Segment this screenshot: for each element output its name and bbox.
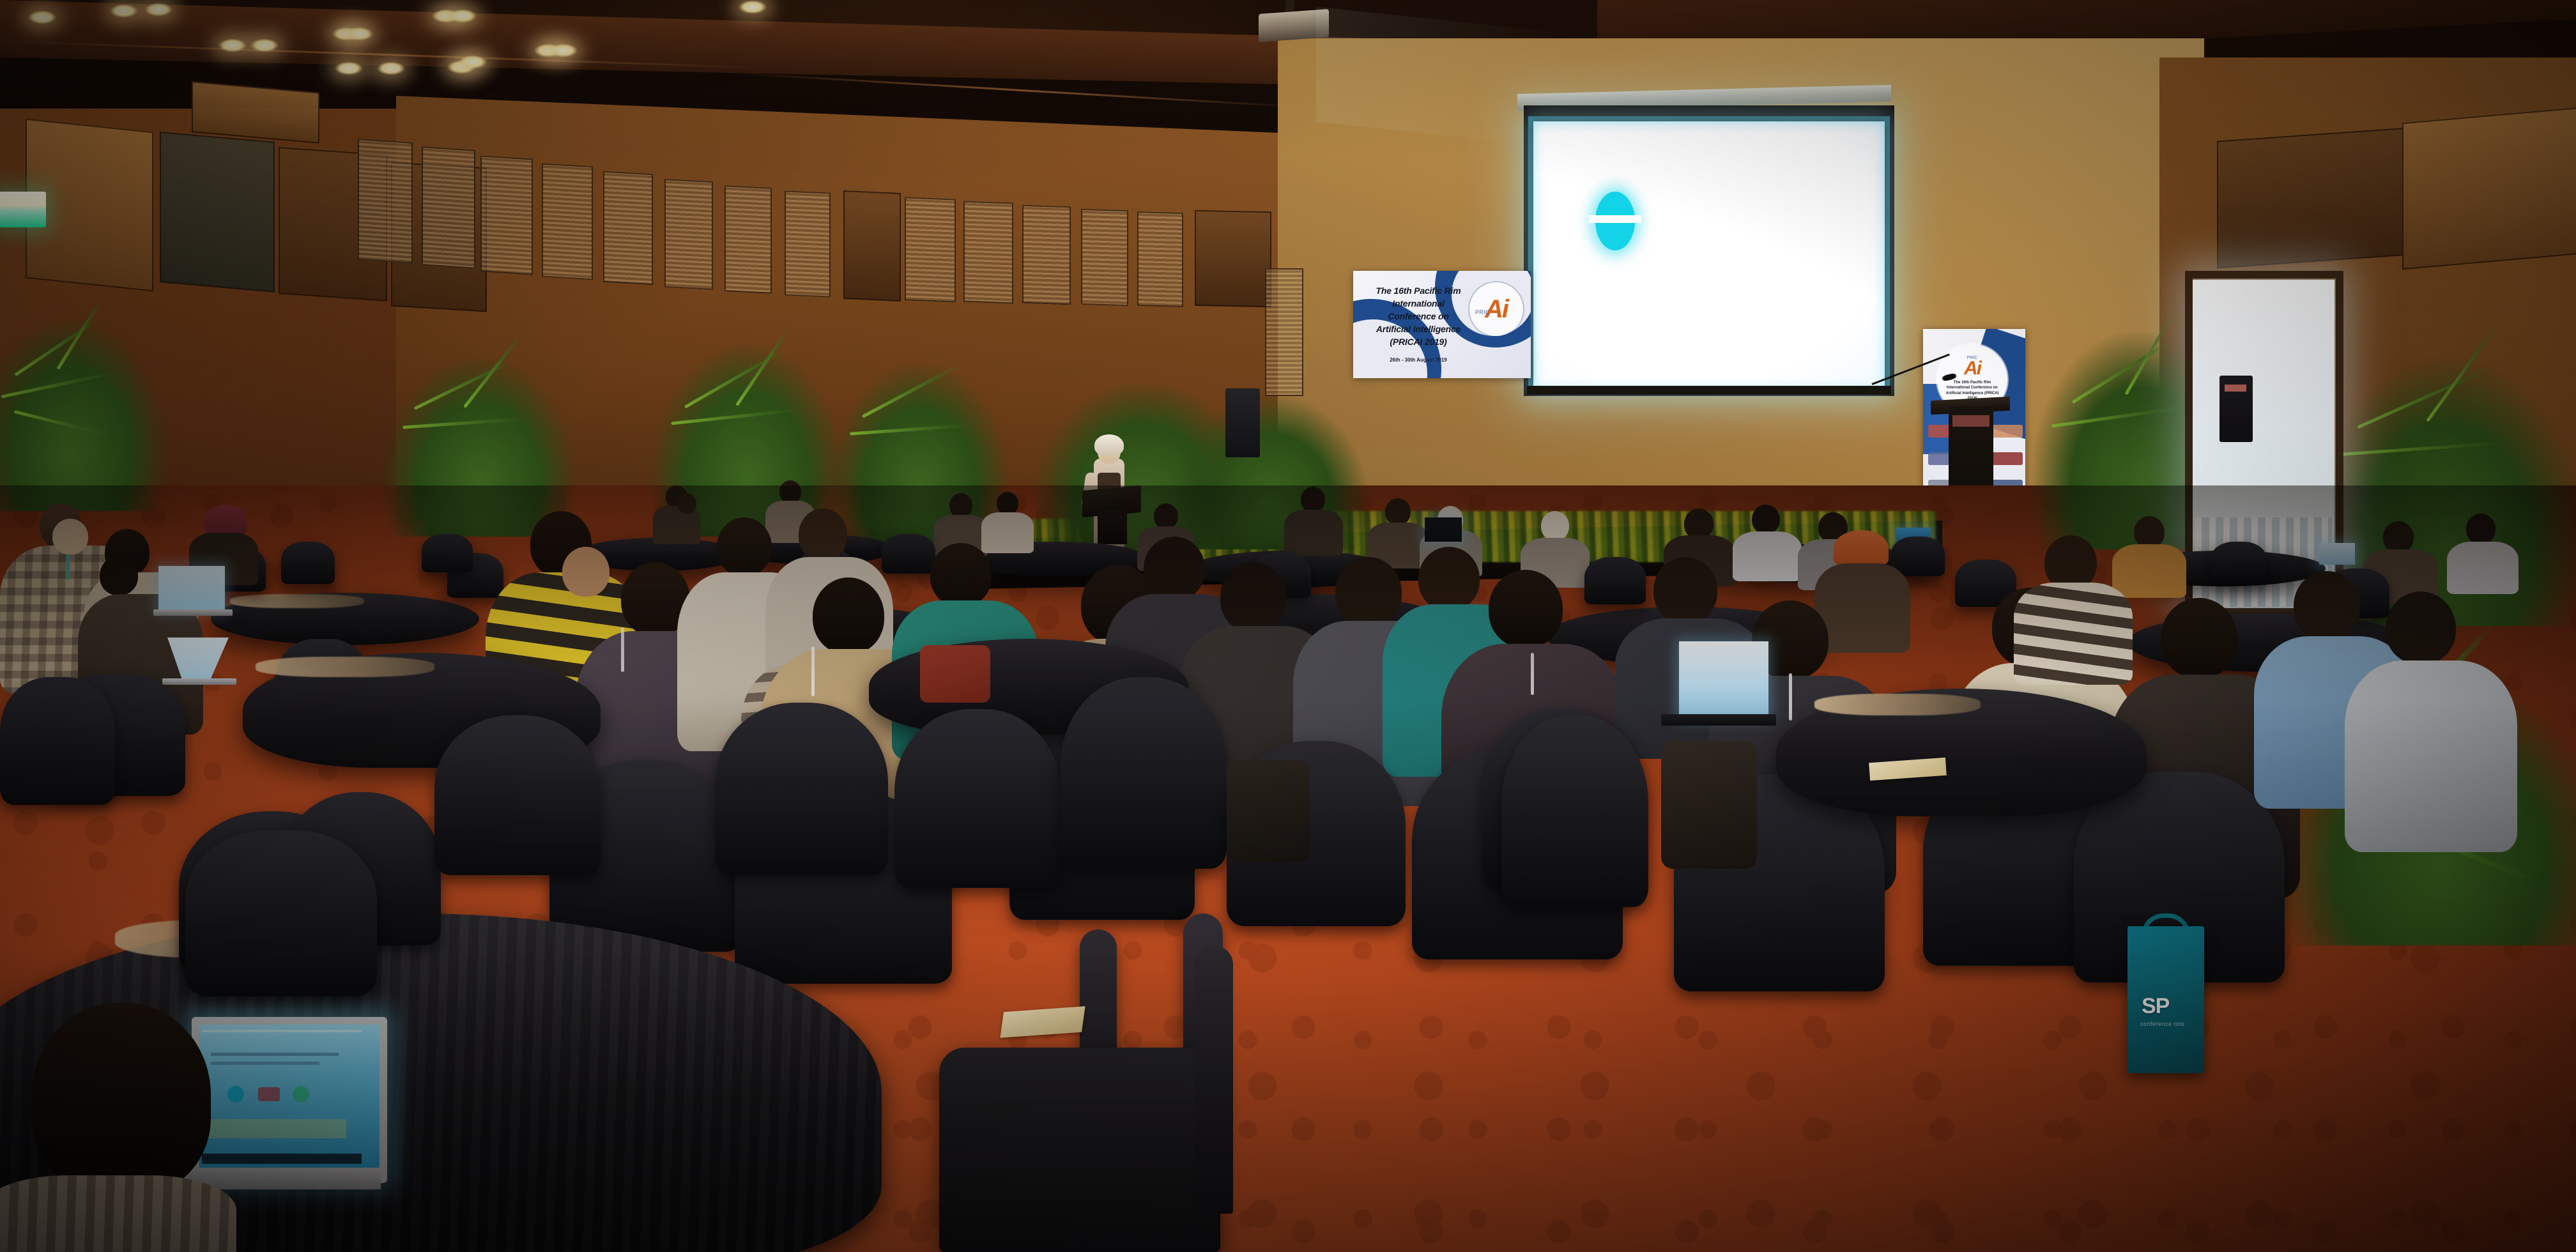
- window-blind: [542, 164, 593, 280]
- wall-panel: [1195, 210, 1271, 308]
- window-blind: [358, 139, 413, 264]
- window-blind-vertical: [1265, 268, 1303, 396]
- downlight-icon: [448, 9, 477, 23]
- wall-loudspeaker: [1225, 388, 1260, 457]
- banner-title-line: Conference on: [1362, 310, 1475, 323]
- downlight-icon: [218, 38, 247, 52]
- window-blind: [480, 155, 533, 275]
- wall-panel: [843, 190, 901, 302]
- speaker-hair: [1094, 434, 1124, 456]
- downlight-icon: [345, 27, 373, 41]
- wall-panel-right: [2402, 107, 2576, 270]
- downlight-icon: [144, 3, 172, 17]
- downlight-icon: [250, 38, 279, 52]
- downlight-icon: [549, 43, 578, 57]
- banner-title: The 16th Pacific Rim International Confe…: [1362, 285, 1475, 348]
- conference-hall-photo: PRIC Ai The 16th Pacific Rim Internation…: [0, 0, 2576, 1252]
- window-blind: [1022, 205, 1071, 305]
- banner-title-line: The 16th Pacific Rim: [1362, 285, 1475, 298]
- loudspeaker-label: [2225, 385, 2246, 392]
- downlight-icon: [28, 10, 56, 24]
- wall-panel: [160, 132, 275, 293]
- banner-date: 26th - 30th August 2019: [1362, 357, 1475, 363]
- downlight-icon: [335, 61, 363, 75]
- wall-panel-right: [2217, 128, 2409, 269]
- projection-screen-glow: [1528, 116, 1890, 395]
- banner-title-line: Artificial Intelligence: [1362, 323, 1475, 336]
- pricai-logo-prefix: PRIC: [1475, 309, 1490, 316]
- window-blind: [603, 171, 653, 285]
- banner-title-line: International: [1362, 298, 1475, 310]
- window-blind: [963, 201, 1013, 304]
- window-blind: [905, 197, 956, 302]
- lectern-plaque: [1952, 415, 1989, 427]
- window-blind: [422, 146, 475, 269]
- cyan-oval-marker-bar: [1589, 215, 1641, 223]
- downlight-icon: [110, 4, 138, 18]
- pricai-logo-mark: Ai: [1964, 359, 1981, 378]
- window-blind: [1137, 211, 1183, 307]
- window-blind: [664, 179, 713, 290]
- exit-sign: [0, 192, 46, 227]
- downlight-icon: [459, 55, 487, 69]
- pricai-logo: PRIC Ai: [1469, 282, 1523, 336]
- window-blind: [724, 185, 772, 294]
- window-blind: [1081, 209, 1128, 306]
- downlight-icon: [739, 0, 767, 14]
- wall-banner-pricai: PRIC Ai The 16th Pacific Rim Internation…: [1353, 271, 1531, 378]
- window-blind: [785, 190, 831, 297]
- projection-screen-bottom-bar: [1527, 386, 1891, 395]
- downlight-icon: [377, 61, 405, 75]
- banner-title-line: (PRICAI 2019): [1362, 336, 1475, 349]
- floor-shading: [0, 485, 2576, 1252]
